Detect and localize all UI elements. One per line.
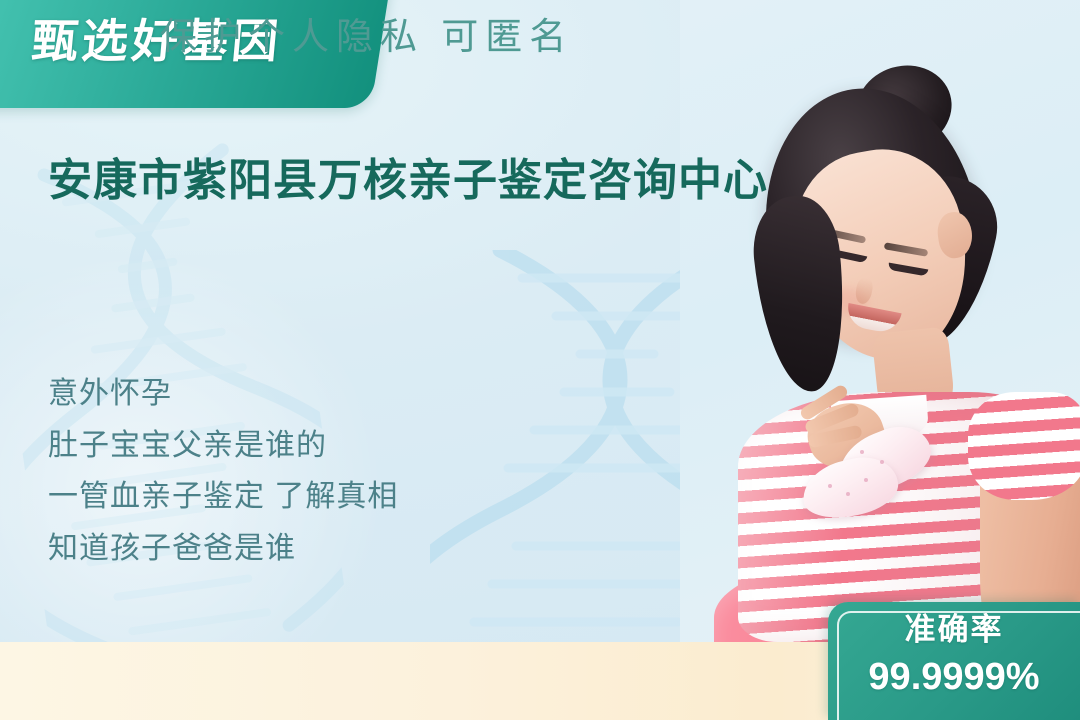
- copy-line: 一管血亲子鉴定 了解真相: [48, 471, 608, 523]
- sleeve: [968, 392, 1080, 500]
- accuracy-badge: 准确率 99.9999%: [828, 602, 1080, 720]
- banner-canvas: 甄选好基因 安康市紫阳县万核亲子鉴定咨询中心 意外怀孕 肚子宝宝父亲是谁的 一管…: [0, 0, 1080, 720]
- accuracy-label: 准确率: [828, 614, 1080, 645]
- baby-shoes: [798, 430, 948, 534]
- copy-line: 肚子宝宝父亲是谁的: [48, 420, 608, 472]
- copy-line: 知道孩子爸爸是谁: [48, 523, 608, 575]
- page-title: 安康市紫阳县万核亲子鉴定咨询中心: [48, 152, 848, 210]
- marketing-copy: 意外怀孕 肚子宝宝父亲是谁的 一管血亲子鉴定 了解真相 知道孩子爸爸是谁: [48, 368, 608, 574]
- accuracy-value: 99.9999%: [828, 658, 1080, 696]
- privacy-banner-label: 保护个人隐私 可匿名: [160, 18, 573, 55]
- copy-line: 意外怀孕: [48, 368, 608, 420]
